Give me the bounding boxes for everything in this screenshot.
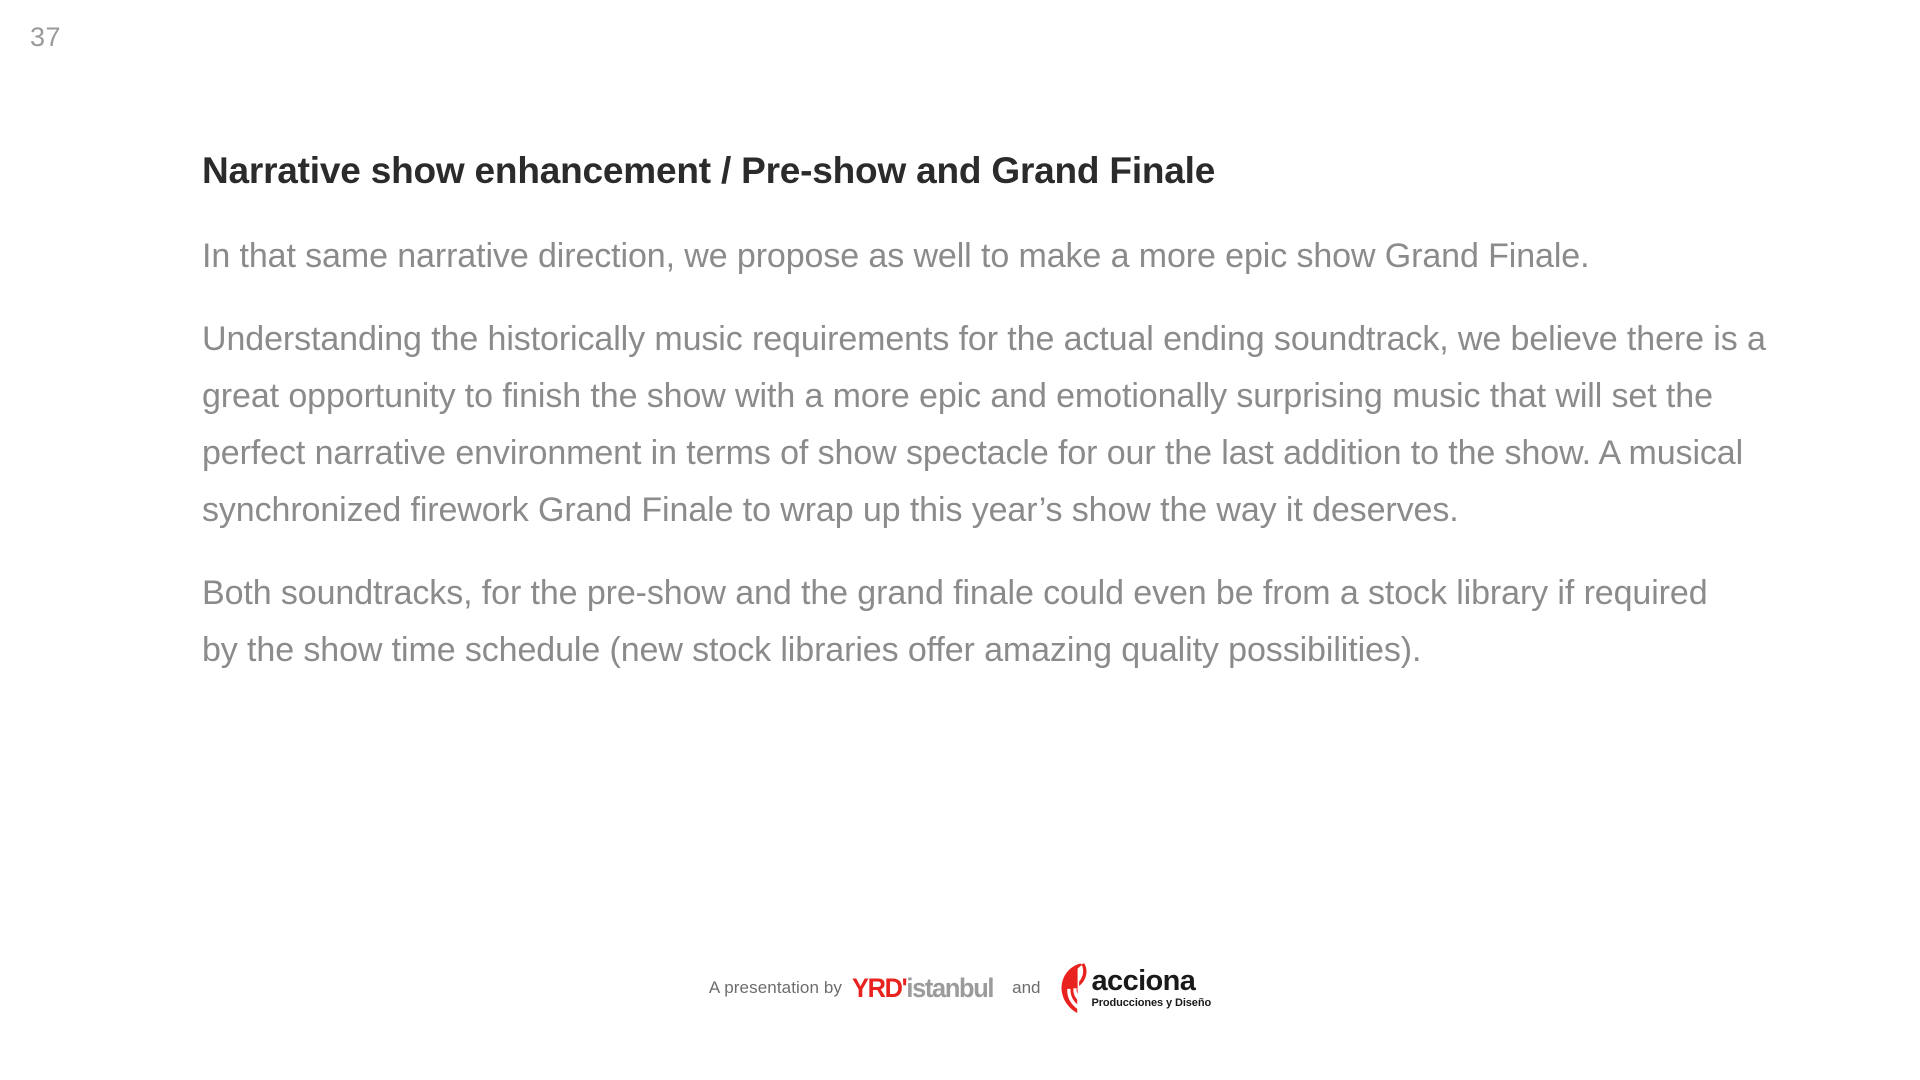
- page-title: Narrative show enhancement / Pre-show an…: [202, 148, 1822, 194]
- footer-conjunction: and: [1012, 978, 1040, 998]
- acciona-hand-mark: [1059, 962, 1089, 1014]
- presented-by-label: A presentation by: [709, 978, 842, 998]
- yrd-istanbul-logo: YRD' istanbul: [852, 975, 993, 1002]
- yrd-logo-red-text: YRD': [852, 975, 906, 1002]
- body-paragraph-2: Understanding the historically music req…: [202, 311, 1812, 539]
- page-number: 37: [30, 22, 61, 53]
- acciona-logo: acciona Producciones y Diseño: [1059, 962, 1212, 1014]
- acciona-wordmark: acciona Producciones y Diseño: [1092, 967, 1212, 1009]
- slide-content: Narrative show enhancement / Pre-show an…: [202, 148, 1822, 705]
- body-paragraph-1: In that same narrative direction, we pro…: [202, 228, 1772, 285]
- body-paragraph-3: Both soundtracks, for the pre-show and t…: [202, 565, 1742, 679]
- footer-credit: A presentation by YRD' istanbul and acci…: [0, 962, 1920, 1014]
- yrd-logo-gray-text: istanbul: [906, 975, 993, 1002]
- acciona-tagline: Producciones y Diseño: [1092, 998, 1212, 1009]
- acciona-name: acciona: [1092, 967, 1212, 996]
